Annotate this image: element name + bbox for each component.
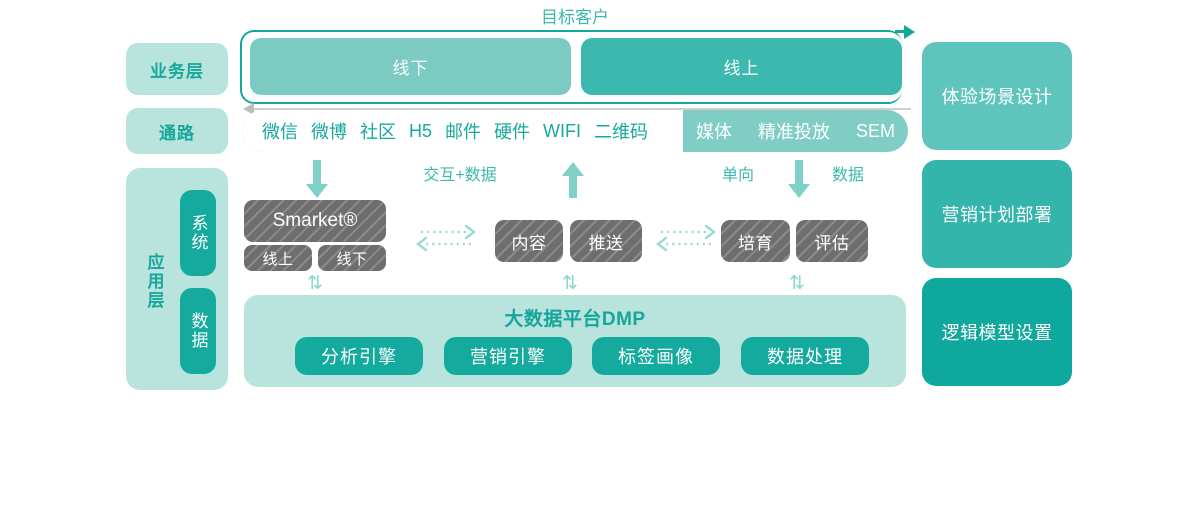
connector-updown-content: ⇅ <box>553 272 587 294</box>
channel-item-email[interactable]: 邮件 <box>445 118 481 144</box>
sidebar-item-business-layer[interactable]: 业务层 <box>126 43 228 95</box>
channel-group-online: 媒体 精准投放 SEM <box>683 110 908 152</box>
channel-item-wechat[interactable]: 微信 <box>262 118 298 144</box>
channel-item-precision-delivery[interactable]: 精准投放 <box>758 118 830 144</box>
business-layer-row: 线下 线上 <box>240 30 910 108</box>
app-box-push[interactable]: 推送 <box>570 220 642 262</box>
connector-updown-smarket: ⇅ <box>298 272 332 294</box>
channel-item-wifi[interactable]: WIFI <box>543 121 581 142</box>
connector-updown-nurture: ⇅ <box>780 272 814 294</box>
app-box-smarket[interactable]: Smarket® <box>244 200 386 242</box>
flow-label-interactive-data: 交互+数据 <box>405 162 515 184</box>
flow-arrow-down-data <box>786 160 812 200</box>
right-item-experience-scene-design[interactable]: 体验场景设计 <box>922 42 1072 150</box>
sidebar-item-channel-layer[interactable]: 通路 <box>126 108 228 154</box>
right-item-logic-model-setting[interactable]: 逻辑模型设置 <box>922 278 1072 386</box>
dmp-module-marketing-engine[interactable]: 营销引擎 <box>444 337 572 375</box>
flow-arrow-down-smarket <box>304 160 330 200</box>
dmp-title: 大数据平台DMP <box>244 305 906 329</box>
dotted-bidirectional-arrow-1 <box>408 222 484 256</box>
dotted-bidirectional-arrow-2 <box>648 222 724 256</box>
dmp-module-data-processing[interactable]: 数据处理 <box>741 337 869 375</box>
application-sublabel-data[interactable]: 数据 <box>180 288 216 374</box>
channel-item-weibo[interactable]: 微博 <box>311 118 347 144</box>
app-box-evaluate[interactable]: 评估 <box>796 220 868 262</box>
flow-label-data: 数据 <box>815 162 881 184</box>
dmp-module-tag-profile[interactable]: 标签画像 <box>592 337 720 375</box>
channel-item-community[interactable]: 社区 <box>360 118 396 144</box>
business-cell-offline[interactable]: 线下 <box>250 38 571 95</box>
channel-item-hardware[interactable]: 硬件 <box>494 118 530 144</box>
flow-label-one-way: 单向 <box>705 162 771 184</box>
right-item-marketing-plan-deployment[interactable]: 营销计划部署 <box>922 160 1072 268</box>
channel-item-h5[interactable]: H5 <box>409 121 432 142</box>
diagram-canvas: 目标客户 业务层 通路 应用层 系统 数据 线下 线上 微信 微博 社区 H5 … <box>0 0 1198 511</box>
business-flow-arrow-right <box>904 25 915 39</box>
dmp-module-analysis-engine[interactable]: 分析引擎 <box>295 337 423 375</box>
sidebar-item-application-layer[interactable]: 应用层 系统 数据 <box>126 168 228 390</box>
channel-item-sem[interactable]: SEM <box>856 121 895 142</box>
channel-group-offline: 微信 微博 社区 H5 邮件 硬件 WIFI 二维码 <box>242 110 683 152</box>
app-box-smarket-online[interactable]: 线上 <box>244 245 312 271</box>
target-customer-label: 目标客户 <box>505 4 645 26</box>
channel-bar: 微信 微博 社区 H5 邮件 硬件 WIFI 二维码 媒体 精准投放 SEM <box>242 110 908 152</box>
app-box-smarket-offline[interactable]: 线下 <box>318 245 386 271</box>
business-cell-online[interactable]: 线上 <box>581 38 902 95</box>
dmp-panel: 大数据平台DMP 分析引擎 营销引擎 标签画像 数据处理 <box>244 295 906 387</box>
app-box-content[interactable]: 内容 <box>495 220 563 262</box>
application-sublabel-system[interactable]: 系统 <box>180 190 216 276</box>
app-box-nurture[interactable]: 培育 <box>721 220 790 262</box>
channel-item-media[interactable]: 媒体 <box>696 118 732 144</box>
application-layer-label: 应用层 <box>134 226 174 336</box>
flow-arrow-up-channel <box>560 160 586 200</box>
channel-item-qrcode[interactable]: 二维码 <box>594 118 648 144</box>
